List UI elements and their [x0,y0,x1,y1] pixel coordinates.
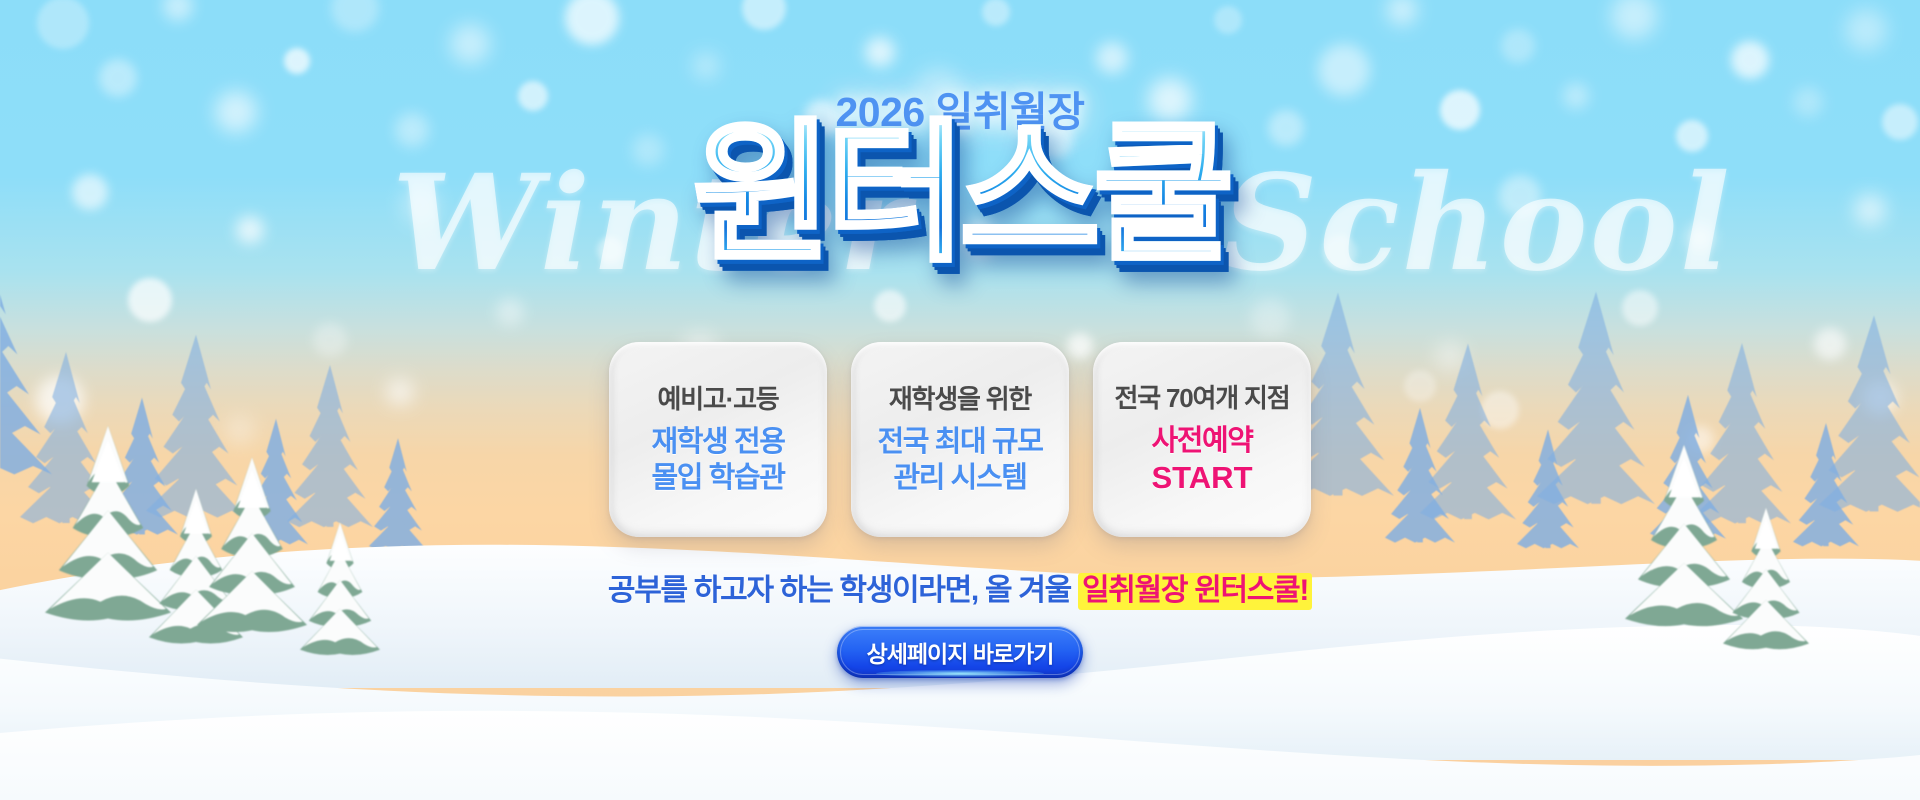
tagline: 공부를 하고자 하는 학생이라면, 올 겨울 일취월장 윈터스쿨! [608,565,1312,609]
feature-card[interactable]: 재학생을 위한 전국 최대 규모 관리 시스템 [851,342,1069,537]
card-title: 사전예약 START [1151,424,1252,497]
card-subtitle: 예비고·고등 [657,379,778,416]
feature-card-list: 예비고·고등 재학생 전용 몰입 학습관 재학생을 위한 전국 최대 규모 관리… [609,342,1311,537]
card-subtitle: 전국 70여개 지점 [1115,378,1290,415]
detail-page-button-label: 상세페이지 바로가기 [867,635,1054,669]
tagline-lead-text: 공부를 하고자 하는 학생이라면, 올 겨울 [608,574,1078,607]
card-title: 전국 최대 규모 관리 시스템 [878,425,1043,496]
main-logo-text: 윈터스쿨 [0,118,1920,270]
banner-content: 2026 일취월장 Winter School 윈터스쿨 예비고·고등 재학생 … [0,0,1920,800]
card-title-line2: 몰입 학습관 [651,461,784,496]
feature-card[interactable]: 전국 70여개 지점 사전예약 START [1093,342,1311,537]
card-title-line1: 사전예약 [1151,424,1252,459]
title-block: Winter School 윈터스쿨 [0,134,1920,314]
card-title-line1: 전국 최대 규모 [878,425,1043,460]
tagline-highlight-text: 일취월장 윈터스쿨! [1078,573,1312,610]
winter-school-banner: 2026 일취월장 Winter School 윈터스쿨 예비고·고등 재학생 … [0,0,1920,800]
card-title-line2: 관리 시스템 [878,461,1043,496]
card-title: 재학생 전용 몰입 학습관 [651,425,784,496]
card-subtitle: 재학생을 위한 [889,379,1031,416]
detail-page-button[interactable]: 상세페이지 바로가기 [837,626,1084,678]
card-title-line2: START [1151,459,1252,497]
feature-card[interactable]: 예비고·고등 재학생 전용 몰입 학습관 [609,342,827,537]
card-title-line1: 재학생 전용 [651,425,784,460]
